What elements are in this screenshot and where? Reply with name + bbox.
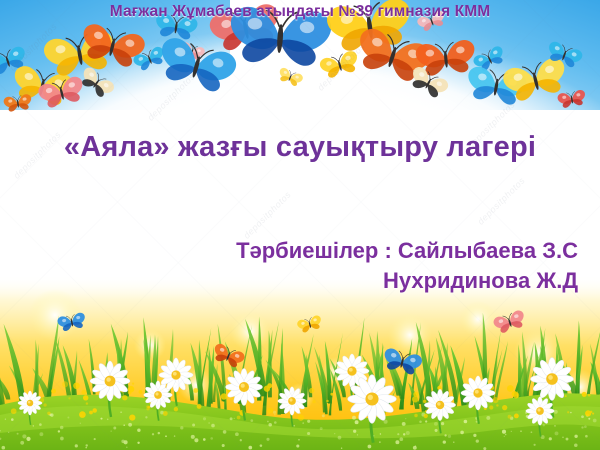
- grass-blade: [242, 373, 254, 405]
- yellow-flower-dot: [175, 392, 179, 396]
- yellow-flower-dot: [105, 392, 109, 396]
- ground-sparkle: [520, 430, 522, 432]
- ground-sparkle: [223, 430, 227, 434]
- ground-sparkle: [384, 420, 388, 424]
- ground-sparkle: [473, 434, 476, 437]
- ground-sparkle: [174, 435, 175, 436]
- grass-blade: [319, 354, 327, 412]
- ground-sparkle: [448, 435, 451, 438]
- grass-blade: [32, 368, 51, 404]
- ground-sparkle: [359, 410, 363, 414]
- ground-sparkle: [2, 446, 6, 450]
- ground-sparkle: [22, 434, 26, 438]
- yellow-flower-dots: [11, 381, 594, 421]
- ground-sparkle: [353, 410, 355, 412]
- grass-blade: [248, 355, 262, 396]
- grass-blade: [374, 331, 379, 412]
- ground-sparkle: [266, 438, 269, 441]
- grass-hill-highlight: [0, 406, 600, 438]
- grass-blade: [414, 369, 426, 413]
- grass-blade: [198, 340, 202, 413]
- ground-sparkle: [210, 437, 213, 440]
- ground-sparkle: [145, 416, 147, 418]
- grass-blade: [441, 342, 448, 406]
- ground-sparkle: [581, 426, 583, 428]
- grass-blade: [102, 352, 108, 395]
- ground-sparkle: [5, 419, 6, 420]
- ground-sparkle: [26, 437, 30, 441]
- grass-blade: [63, 345, 77, 398]
- butterfly-orange-right-1: [352, 26, 433, 86]
- butterfly-blue-small-1: [132, 45, 167, 72]
- yellow-flower-dot: [51, 389, 56, 394]
- ground-sparkle: [234, 418, 235, 419]
- ground-sparkle: [48, 414, 49, 415]
- grass-blade: [111, 324, 129, 400]
- ground-sparkle: [297, 412, 298, 413]
- ground-sparkle: [399, 437, 403, 441]
- ground-sparkle: [502, 430, 506, 434]
- ground-sparkle: [338, 436, 342, 440]
- grass-blade: [519, 375, 523, 414]
- grass-blade: [353, 317, 364, 399]
- ground-sparkle: [379, 441, 380, 442]
- yellow-flower-dot: [237, 416, 241, 420]
- ground-sparkle: [531, 415, 533, 417]
- yellow-flower-dot: [496, 404, 498, 406]
- daisy-5: [225, 368, 262, 420]
- yellow-flower-dot: [43, 403, 46, 406]
- ground-sparkle: [75, 444, 78, 447]
- grass-blade: [382, 390, 396, 417]
- yellow-flower-dot: [81, 390, 86, 395]
- grass-blade: [375, 386, 386, 413]
- yellow-flower-dot: [413, 392, 418, 397]
- ground-sparkle: [20, 441, 24, 445]
- ground-sparkle: [476, 439, 479, 442]
- ground-sparkle: [123, 424, 125, 426]
- ground-sparkle: [476, 420, 478, 422]
- yellow-flower-dot: [146, 405, 148, 407]
- ground-sparkle: [444, 434, 446, 436]
- ground-sparkle: [0, 438, 1, 440]
- ground-sparkle: [50, 413, 53, 416]
- teachers-block: Тәрбиешілер : Сайлыбаева З.С Нухридинова…: [236, 236, 578, 297]
- grass-blade: [490, 350, 497, 399]
- ground-sparkle: [240, 439, 242, 441]
- butterfly-yellow-tiny-1: [277, 67, 304, 88]
- yellow-flower-dot: [312, 400, 315, 403]
- yellow-flower-dot: [414, 414, 417, 417]
- ground-sparkle: [260, 444, 263, 447]
- ground-sparkle: [194, 438, 198, 442]
- butterfly-black-right: [407, 65, 450, 101]
- ground-sparkle: [510, 417, 513, 420]
- butterfly-blue-far-right: [545, 40, 584, 70]
- grass-blade: [512, 355, 528, 403]
- sky-gradient-left: [0, 0, 230, 200]
- yellow-flower-dot: [221, 393, 227, 399]
- yellow-flower-dot: [585, 410, 591, 416]
- yellow-flower-dot: [412, 396, 418, 402]
- grass-blade: [432, 363, 447, 397]
- ground-sparkle: [302, 422, 304, 424]
- grass-blade: [540, 346, 549, 395]
- ground-sparkle: [588, 418, 590, 420]
- daisy-7: [335, 354, 369, 402]
- grass-blade: [213, 364, 218, 402]
- yellow-flower-dot: [197, 404, 202, 409]
- ground-sparkle: [293, 425, 295, 427]
- grass-blade: [375, 376, 390, 404]
- grass-blade: [55, 337, 72, 409]
- yellow-flower-dot: [483, 386, 490, 393]
- meadow-butterfly-pink-right: [492, 309, 527, 335]
- grass-blade: [330, 358, 346, 397]
- grass-blade: [386, 359, 401, 396]
- yellow-flower-dot: [582, 392, 587, 397]
- ground-sparkle: [566, 438, 569, 441]
- grass-blade: [492, 341, 508, 414]
- butterfly-blue-right-1: [472, 45, 507, 74]
- yellow-flower-dot: [62, 381, 68, 387]
- ground-sparkle: [380, 410, 383, 413]
- ground-sparkle: [443, 440, 446, 443]
- grass-blade: [434, 366, 438, 407]
- ground-sparkle: [296, 444, 299, 447]
- butterfly-yellow-right: [501, 56, 570, 104]
- yellow-flower-dot: [488, 398, 491, 401]
- grass-blade: [554, 345, 559, 411]
- grass-blade: [462, 384, 473, 415]
- yellow-flower-dot: [585, 412, 588, 415]
- ground-sparkle: [85, 444, 87, 446]
- ground-sparkle: [8, 432, 9, 433]
- ground-sparkle: [49, 413, 51, 415]
- ground-sparkle: [80, 423, 81, 424]
- grass-blade: [563, 362, 568, 408]
- grass-blade: [452, 357, 464, 414]
- grass-blade: [362, 355, 383, 408]
- grass-blade: [273, 369, 291, 398]
- grass-blade: [281, 343, 285, 414]
- yellow-flower-dot: [264, 386, 270, 392]
- ground-sparkle: [403, 433, 405, 435]
- yellow-flower-dot: [330, 393, 333, 396]
- ground-sparkle: [574, 444, 578, 448]
- grass-blade: [206, 346, 214, 416]
- grass-blade: [379, 342, 383, 396]
- yellow-flower-dot: [588, 394, 591, 397]
- grass-blade: [531, 335, 545, 416]
- ground-sparkle: [248, 446, 252, 450]
- grass-blade: [325, 341, 332, 404]
- yellow-flower-dot: [242, 399, 244, 401]
- meadow-butterfly-blue-mid: [381, 347, 423, 376]
- grass-blade: [399, 338, 412, 409]
- ground-sparkle: [33, 425, 34, 426]
- yellow-flower-dot: [267, 408, 273, 414]
- butterfly-orange-left: [78, 22, 147, 70]
- grass-blade: [209, 347, 213, 404]
- yellow-flower-dot: [83, 395, 88, 400]
- ground-sparkle: [441, 422, 444, 425]
- yellow-flower-dot: [484, 398, 486, 400]
- grass-blade: [408, 383, 419, 409]
- grass-blade: [205, 351, 225, 401]
- butterfly-pink-left: [37, 75, 87, 110]
- grass-blade: [151, 334, 157, 398]
- grass-blade: [89, 339, 96, 395]
- watermark-text: depositphotos: [146, 71, 197, 122]
- ground-sparkle: [585, 435, 588, 438]
- ground-sparkle: [368, 445, 372, 449]
- yellow-flower-dot: [309, 388, 314, 393]
- grass-blade: [215, 380, 221, 412]
- ground-sparkle: [128, 423, 132, 427]
- grass-blade: [388, 356, 405, 399]
- ground-sparkle: [120, 411, 122, 413]
- grass-blade: [262, 330, 272, 416]
- yellow-flower-dot: [507, 385, 514, 392]
- grass-blade: [351, 380, 366, 418]
- grass-blade: [520, 342, 534, 413]
- grass-blades: [0, 313, 600, 419]
- grass-blade: [224, 383, 227, 416]
- ground-sparkle: [60, 426, 64, 430]
- ground-sparkle: [152, 433, 154, 435]
- grass-blade: [540, 326, 548, 395]
- yellow-flower-dot: [68, 397, 70, 399]
- school-title: Мағжан Жұмабаев атындағы №39 гимназия КМ…: [0, 3, 600, 21]
- ground-sparkle: [531, 431, 533, 433]
- butterfly-red-far-right: [557, 89, 587, 109]
- daisy-8: [348, 375, 397, 443]
- butterfly-pink-pale-1: [179, 41, 206, 61]
- ground-sparkle: [94, 438, 96, 440]
- grass-blade: [119, 339, 122, 394]
- grass-blade: [117, 332, 128, 394]
- grass-blade: [526, 351, 540, 396]
- ground-sparkle: [355, 420, 359, 424]
- butterfly-yellow-left-1: [10, 64, 74, 108]
- ground-sparkle: [235, 432, 239, 436]
- grass-blade: [143, 339, 153, 415]
- ground-sparkle: [511, 431, 512, 432]
- yellow-flower-dot: [174, 407, 178, 411]
- ground-sparkle: [397, 433, 399, 435]
- yellow-flower-dot: [47, 412, 50, 415]
- grass-blade: [555, 333, 567, 403]
- yellow-flower-dot: [431, 404, 434, 407]
- yellow-flower-dot: [106, 388, 112, 394]
- grass-blade: [371, 376, 384, 412]
- yellow-flower-dot: [423, 400, 426, 403]
- teachers-line-1: Тәрбиешілер : Сайлыбаева З.С: [236, 236, 578, 266]
- grass-blade: [0, 335, 5, 415]
- yellow-flower-dot: [227, 392, 233, 398]
- ground-sparkle: [208, 422, 209, 423]
- grass-blade: [117, 346, 122, 400]
- grass-blade: [535, 342, 541, 398]
- yellow-flower-dot: [365, 393, 370, 398]
- ground-sparkles: [0, 410, 597, 450]
- yellow-flower-dot: [11, 408, 17, 414]
- ground-sparkle: [267, 421, 269, 423]
- ground-sparkle: [554, 410, 558, 414]
- daisy-6: [278, 387, 307, 427]
- ground-sparkle: [505, 434, 507, 436]
- yellow-flower-dot: [89, 411, 93, 415]
- ground-sparkle: [373, 435, 374, 436]
- watermark-text: depositphotos: [316, 41, 367, 92]
- grass-blade: [438, 330, 457, 403]
- butterfly-black-left: [77, 65, 116, 101]
- grass-blade: [46, 315, 59, 399]
- grass-blade: [31, 344, 38, 413]
- ground-sparkle: [434, 422, 438, 426]
- yellow-flower-dot: [489, 405, 493, 409]
- yellow-flower-dot: [18, 401, 23, 406]
- grass-blade: [263, 320, 279, 405]
- daisy-1: [18, 391, 42, 425]
- ground-sparkle: [60, 437, 64, 441]
- ground-sparkle: [58, 430, 60, 432]
- yellow-flower-dot: [132, 382, 134, 384]
- yellow-flower-dot: [590, 411, 593, 414]
- ground-sparkle: [137, 428, 140, 431]
- grass-blade: [329, 333, 343, 416]
- grass-blade: [143, 335, 150, 418]
- yellow-flower-dot: [490, 386, 494, 390]
- watermark-text: depositphotos: [8, 21, 59, 72]
- yellow-flower-dot: [139, 390, 143, 394]
- ground-sparkle: [113, 427, 116, 430]
- grass-blade: [573, 345, 582, 407]
- yellow-flower-dot: [163, 411, 168, 416]
- grass-blade: [245, 319, 266, 397]
- yellow-flower-dot: [286, 405, 289, 408]
- ground-sparkle: [526, 415, 529, 418]
- ground-sparkle: [273, 411, 276, 414]
- grass-blade: [315, 361, 327, 414]
- grass-blade: [145, 331, 151, 412]
- ground-sparkle: [165, 435, 167, 437]
- yellow-flower-dot: [514, 413, 519, 418]
- grass-blade: [530, 328, 545, 416]
- yellow-flower-dot: [592, 413, 594, 415]
- yellow-flower-dot: [79, 411, 86, 418]
- ground-sparkle: [80, 414, 82, 416]
- meadow-butterfly-orange: [211, 342, 246, 369]
- butterfly-orange-small-1: [3, 94, 33, 113]
- yellow-flower-dot: [326, 400, 329, 403]
- grass-blade: [424, 340, 430, 418]
- daisy-12: [526, 397, 555, 437]
- yellow-flower-dot: [173, 384, 176, 387]
- yellow-flower-dot: [492, 397, 498, 403]
- grass-blade: [483, 313, 488, 396]
- ground-sparkle: [584, 425, 587, 428]
- grass-blade: [520, 360, 529, 410]
- ground-sparkle: [555, 431, 559, 435]
- presentation-slide: depositphotos depositphotos depositphoto…: [0, 0, 600, 450]
- ground-sparkle: [250, 419, 253, 422]
- ground-sparkle: [586, 414, 589, 417]
- yellow-flower-dot: [227, 387, 232, 392]
- ground-sparkle: [554, 425, 556, 427]
- yellow-flower-dot: [424, 414, 428, 418]
- ground-sparkle: [464, 420, 468, 424]
- grass-blade: [225, 341, 247, 416]
- yellow-flower-dot: [513, 392, 519, 398]
- grass-blade: [45, 336, 59, 413]
- ground-sparkle: [543, 424, 545, 426]
- yellow-flower-dot: [382, 409, 388, 415]
- ground-sparkle: [541, 435, 545, 439]
- yellow-flower-dot: [122, 395, 127, 400]
- ground-sparkle: [380, 433, 381, 434]
- grass-blade: [0, 369, 10, 400]
- yellow-flower-dot: [484, 407, 487, 410]
- yellow-flower-dot: [508, 415, 512, 419]
- grass-blade: [555, 374, 572, 411]
- yellow-flower-dot: [425, 410, 427, 412]
- grass-blade: [166, 329, 173, 407]
- ground-sparkle: [307, 420, 310, 423]
- grass-blade: [277, 328, 282, 415]
- ground-sparkle: [406, 431, 410, 435]
- daisy-9: [424, 389, 455, 433]
- meadow-butterfly-yellow: [296, 315, 323, 334]
- ground-sparkle: [402, 422, 406, 426]
- yellow-flower-dot: [92, 408, 97, 413]
- grass-blade: [474, 336, 490, 409]
- watermark-text: depositphotos: [476, 175, 527, 226]
- ground-sparkle: [124, 440, 128, 444]
- yellow-flower-dot: [128, 386, 135, 393]
- grass-blade: [218, 324, 227, 402]
- ground-sparkle: [274, 421, 277, 424]
- teachers-line-2: Нухридинова Ж.Д: [236, 266, 578, 296]
- yellow-flower-dot: [239, 410, 245, 416]
- yellow-flower-dot: [298, 415, 304, 421]
- yellow-flower-dot: [120, 388, 124, 392]
- daisy-4: [159, 358, 193, 406]
- ground-sparkle: [222, 444, 225, 447]
- meadow-butterflies: [57, 309, 527, 376]
- grass-blade: [487, 349, 502, 411]
- ground-sparkle: [453, 442, 454, 443]
- grass-blade: [416, 322, 432, 402]
- ground-sparkle: [395, 440, 399, 444]
- ground-sparkle: [443, 413, 446, 416]
- watermark-text: depositphotos: [242, 189, 293, 240]
- grass-blade: [257, 317, 261, 401]
- ground-sparkle: [192, 424, 195, 427]
- grass-blade: [186, 370, 194, 401]
- ground-sparkle: [581, 415, 584, 418]
- grass-blade: [410, 322, 420, 405]
- grass-blade: [298, 334, 313, 408]
- grass-blade: [479, 385, 485, 414]
- ground-sparkle: [137, 442, 139, 444]
- grass-blade: [113, 368, 126, 412]
- grass-blade: [379, 352, 386, 411]
- ground-sparkle: [570, 412, 572, 414]
- grass-blade: [4, 324, 25, 408]
- ground-sparkle: [357, 434, 358, 435]
